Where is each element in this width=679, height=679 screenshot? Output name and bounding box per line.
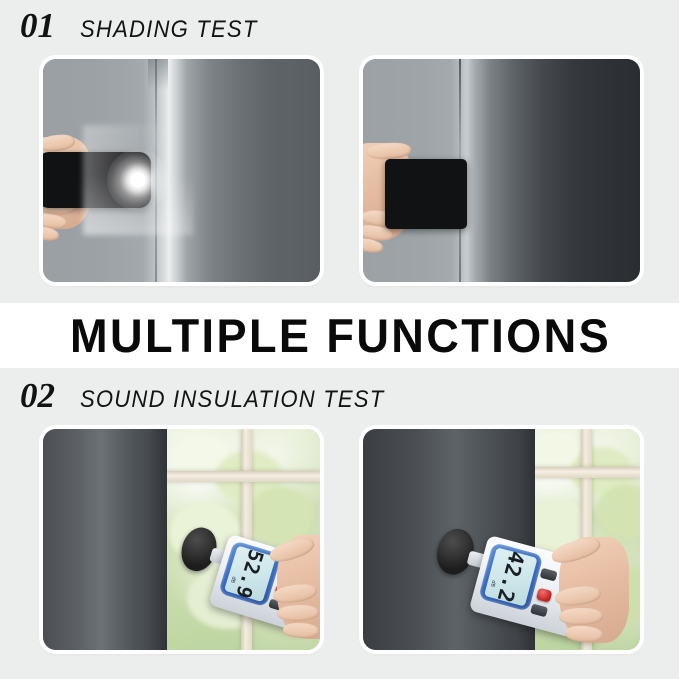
meter-reading: 52.9 bbox=[231, 546, 269, 601]
foliage bbox=[597, 485, 640, 539]
flashlight-glow bbox=[107, 149, 169, 211]
scene-window-meter-open: 52.9 dB BENETECH bbox=[43, 429, 320, 650]
blackout-curtain bbox=[43, 429, 167, 650]
scene-window-meter-blocked: 42.2 dB BENETECH bbox=[363, 429, 640, 650]
infographic-page: 01 SHADING TEST bbox=[0, 0, 679, 679]
photo-sound-meter-open: 52.9 dB BENETECH bbox=[43, 429, 320, 650]
curtain-fold-highlight bbox=[148, 59, 167, 90]
section-heading-sound: 02 SOUND INSULATION TEST bbox=[0, 378, 679, 422]
photo-shading-light-blocked bbox=[363, 59, 640, 282]
photo-shading-flashlight-on bbox=[43, 59, 320, 282]
photo-sound-meter-against-curtain: 42.2 dB BENETECH bbox=[363, 429, 640, 650]
section-label-shading-test: SHADING TEST bbox=[80, 18, 258, 42]
section-heading-shading: 01 SHADING TEST bbox=[0, 8, 679, 52]
banner-title: MULTIPLE FUNCTIONS bbox=[70, 312, 611, 359]
finger-ring bbox=[559, 608, 603, 626]
meter-reading: 42.2 bbox=[492, 548, 529, 605]
scene-curtain-light-blocked bbox=[363, 59, 640, 282]
smartphone bbox=[385, 159, 467, 229]
window-mullion-horizontal bbox=[163, 471, 320, 482]
window-mullion-horizontal bbox=[523, 467, 640, 478]
section-number-01: 01 bbox=[20, 8, 55, 43]
banner-multiple-functions: MULTIPLE FUNCTIONS bbox=[0, 303, 679, 368]
scene-curtain-flashlight-on bbox=[43, 59, 320, 282]
section-number-02: 02 bbox=[20, 378, 55, 413]
section-label-sound-insulation-test: SOUND INSULATION TEST bbox=[80, 388, 384, 412]
